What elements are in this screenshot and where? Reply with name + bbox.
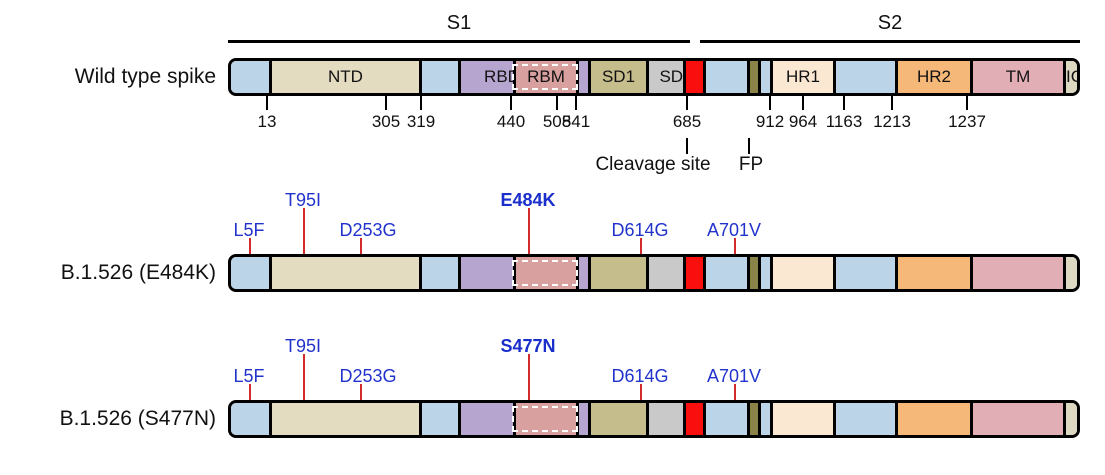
- callout-label-cleavage-site: Cleavage site: [595, 154, 710, 176]
- residue-number-305: 305: [372, 112, 400, 132]
- mutation-label-b1526-s477n-t95i: T95I: [285, 336, 321, 357]
- segment-b1526-s477n-fp: [747, 403, 758, 435]
- segment-b1526-e484k-ic: [1063, 257, 1080, 289]
- segment-b1526-e484k-sd1: [588, 257, 646, 289]
- segment-b1526-e484k-rbm: [513, 257, 576, 289]
- segment-wild-type-linker4: [758, 61, 770, 93]
- segment-wild-type-ic: IC: [1063, 61, 1080, 93]
- mutation-label-b1526-e484k-d253g: D253G: [339, 220, 396, 241]
- segment-wild-type-fp: [747, 61, 758, 93]
- segment-wild-type-linker5: [833, 61, 895, 93]
- mutation-stem-b1526-s477n-t95i: [303, 354, 305, 400]
- row-label-b1526-e484k: B.1.526 (E484K): [8, 261, 216, 285]
- segment-wild-type-sd1: SD1: [588, 61, 646, 93]
- residue-tick-305: [385, 96, 387, 110]
- mutation-label-b1526-s477n-l5f: L5F: [233, 366, 264, 387]
- mutation-label-b1526-s477n-s477n: S477N: [500, 336, 555, 357]
- segment-wild-type-nterm: [231, 61, 269, 93]
- segment-wild-type-linker1: [419, 61, 458, 93]
- mutation-stem-b1526-e484k-t95i: [303, 208, 305, 254]
- mutation-label-b1526-e484k-t95i: T95I: [285, 190, 321, 211]
- mutation-label-b1526-e484k-d614g: D614G: [611, 220, 668, 241]
- segment-b1526-s477n-linker4: [758, 403, 770, 435]
- mutation-label-b1526-s477n-a701v: A701V: [707, 366, 761, 387]
- residue-number-1163: 1163: [826, 112, 863, 132]
- segment-b1526-e484k-linker1: [419, 257, 458, 289]
- mutation-label-b1526-s477n-d614g: D614G: [611, 366, 668, 387]
- section-label-s1: S1: [228, 12, 690, 35]
- residue-number-1237: 1237: [948, 112, 986, 132]
- mutation-stem-b1526-e484k-e484k: [528, 208, 530, 254]
- segment-b1526-s477n-tm: [970, 403, 1063, 435]
- segment-wild-type-cleavage: [683, 61, 703, 93]
- segment-b1526-e484k-nterm: [231, 257, 269, 289]
- segment-wild-type-tm: TM: [970, 61, 1063, 93]
- residue-number-319: 319: [407, 112, 435, 132]
- segment-b1526-e484k-cleavage: [683, 257, 703, 289]
- segment-b1526-e484k-linker5: [833, 257, 895, 289]
- callout-label-fp: FP: [739, 154, 763, 176]
- segment-b1526-s477n-rbm: [513, 403, 576, 435]
- segment-b1526-e484k-ntd: [269, 257, 419, 289]
- residue-number-1213: 1213: [873, 112, 911, 132]
- residue-tick-912: [769, 96, 771, 110]
- residue-number-912: 912: [756, 112, 784, 132]
- segment-b1526-s477n-linker1: [419, 403, 458, 435]
- spike-protein-domain-figure: S1S2Wild type spikeNTDRBDRBMSD1SD2HR1HR2…: [0, 0, 1105, 475]
- residue-number-541: 541: [562, 112, 590, 132]
- residue-tick-440: [510, 96, 512, 110]
- segment-b1526-e484k-tm: [970, 257, 1063, 289]
- row-label-wild-type: Wild type spike: [8, 65, 216, 89]
- residue-tick-1163: [843, 96, 845, 110]
- callout-line-fp: [748, 138, 750, 154]
- residue-tick-319: [420, 96, 422, 110]
- segment-b1526-s477n-hr2: [895, 403, 970, 435]
- mutation-label-b1526-e484k-l5f: L5F: [233, 220, 264, 241]
- row-label-b1526-s477n: B.1.526 (S477N): [8, 407, 216, 431]
- segment-b1526-e484k-linker4: [758, 257, 770, 289]
- mutation-label-b1526-e484k-e484k: E484K: [500, 190, 555, 211]
- residue-tick-13: [266, 96, 268, 110]
- callout-line-cleavage-site: [686, 138, 688, 154]
- residue-tick-1237: [966, 96, 968, 110]
- residue-tick-1213: [891, 96, 893, 110]
- mutation-label-b1526-e484k-a701v: A701V: [707, 220, 761, 241]
- residue-number-440: 440: [497, 112, 525, 132]
- segment-b1526-e484k-hr2: [895, 257, 970, 289]
- residue-number-13: 13: [258, 112, 277, 132]
- segment-b1526-s477n-ic: [1063, 403, 1080, 435]
- protein-bar-b1526-s477n: [228, 400, 1080, 438]
- segment-b1526-e484k-fp: [747, 257, 758, 289]
- segment-b1526-s477n-linker2: [576, 403, 588, 435]
- section-rule-s2: [700, 40, 1080, 43]
- residue-tick-508: [556, 96, 558, 110]
- residue-number-964: 964: [789, 112, 817, 132]
- segment-wild-type-ntd: NTD: [269, 61, 419, 93]
- segment-wild-type-rbm: RBM: [513, 61, 576, 93]
- protein-bar-wild-type: NTDRBDRBMSD1SD2HR1HR2TMIC: [228, 58, 1080, 96]
- segment-b1526-s477n-linker5: [833, 403, 895, 435]
- section-label-s2: S2: [700, 12, 1080, 35]
- section-rule-s1: [228, 40, 690, 43]
- segment-b1526-s477n-nterm: [231, 403, 269, 435]
- mutation-label-b1526-s477n-d253g: D253G: [339, 366, 396, 387]
- residue-tick-541: [575, 96, 577, 110]
- segment-wild-type-linker2: [576, 61, 588, 93]
- residue-tick-964: [802, 96, 804, 110]
- residue-number-685: 685: [673, 112, 701, 132]
- segment-b1526-s477n-cleavage: [683, 403, 703, 435]
- segment-b1526-s477n-ntd: [269, 403, 419, 435]
- segment-b1526-s477n-sd1: [588, 403, 646, 435]
- mutation-stem-b1526-s477n-s477n: [528, 354, 530, 400]
- segment-wild-type-hr1: HR1: [770, 61, 833, 93]
- protein-bar-b1526-e484k: [228, 254, 1080, 292]
- segment-b1526-e484k-linker2: [576, 257, 588, 289]
- segment-b1526-e484k-hr1: [770, 257, 833, 289]
- residue-tick-685: [686, 96, 688, 110]
- segment-wild-type-hr2: HR2: [895, 61, 970, 93]
- segment-b1526-s477n-hr1: [770, 403, 833, 435]
